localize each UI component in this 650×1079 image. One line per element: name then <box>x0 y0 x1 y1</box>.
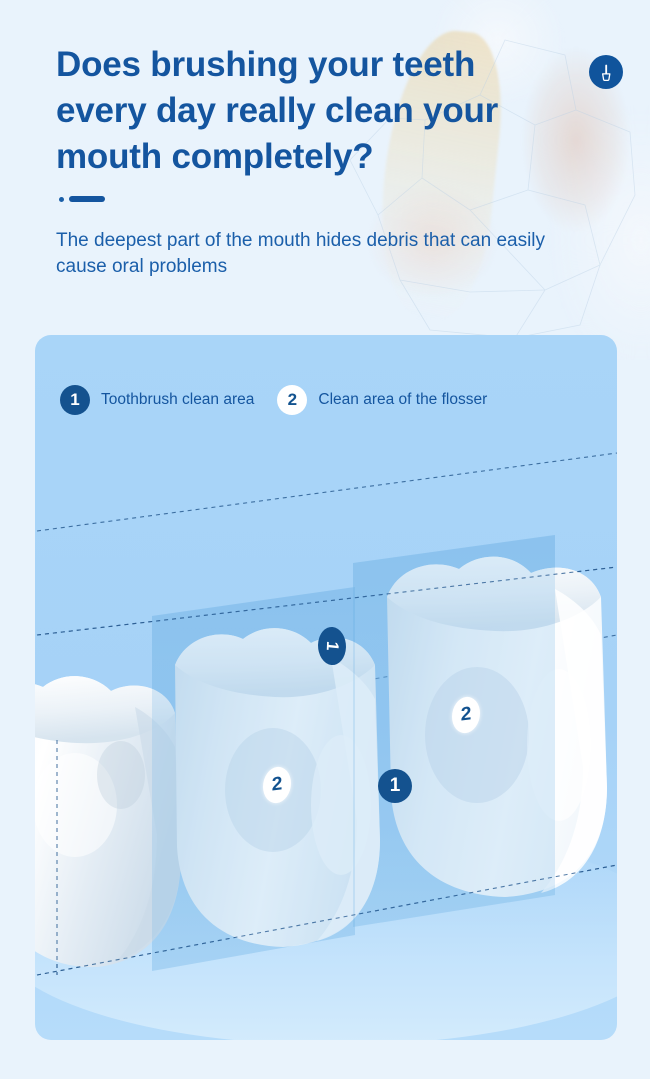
teeth-illustration: 1 2 1 2 <box>35 335 617 1040</box>
legend-badge-1: 1 <box>60 385 90 415</box>
divider-dot <box>59 197 64 202</box>
legend-label-1: Toothbrush clean area <box>101 391 254 409</box>
title-divider <box>59 196 614 202</box>
page-title: Does brushing your teeth every day reall… <box>56 42 556 180</box>
legend-item-flosser: 2 Clean area of the flosser <box>277 385 487 415</box>
toothbrush-glyph <box>596 62 617 83</box>
teeth-scene-svg <box>35 335 617 1040</box>
legend: 1 Toothbrush clean area 2 Clean area of … <box>60 385 487 415</box>
scene-marker-1-face: 1 <box>378 769 412 803</box>
divider-bar <box>69 196 105 202</box>
legend-item-toothbrush: 1 Toothbrush clean area <box>60 385 254 415</box>
toothbrush-icon <box>589 55 623 89</box>
illustration-panel: 1 Toothbrush clean area 2 Clean area of … <box>35 335 617 1040</box>
legend-label-2: Clean area of the flosser <box>318 391 487 409</box>
page-subtitle: The deepest part of the mouth hides debr… <box>56 228 596 280</box>
header: Does brushing your teeth every day reall… <box>0 0 650 280</box>
legend-badge-2: 2 <box>277 385 307 415</box>
